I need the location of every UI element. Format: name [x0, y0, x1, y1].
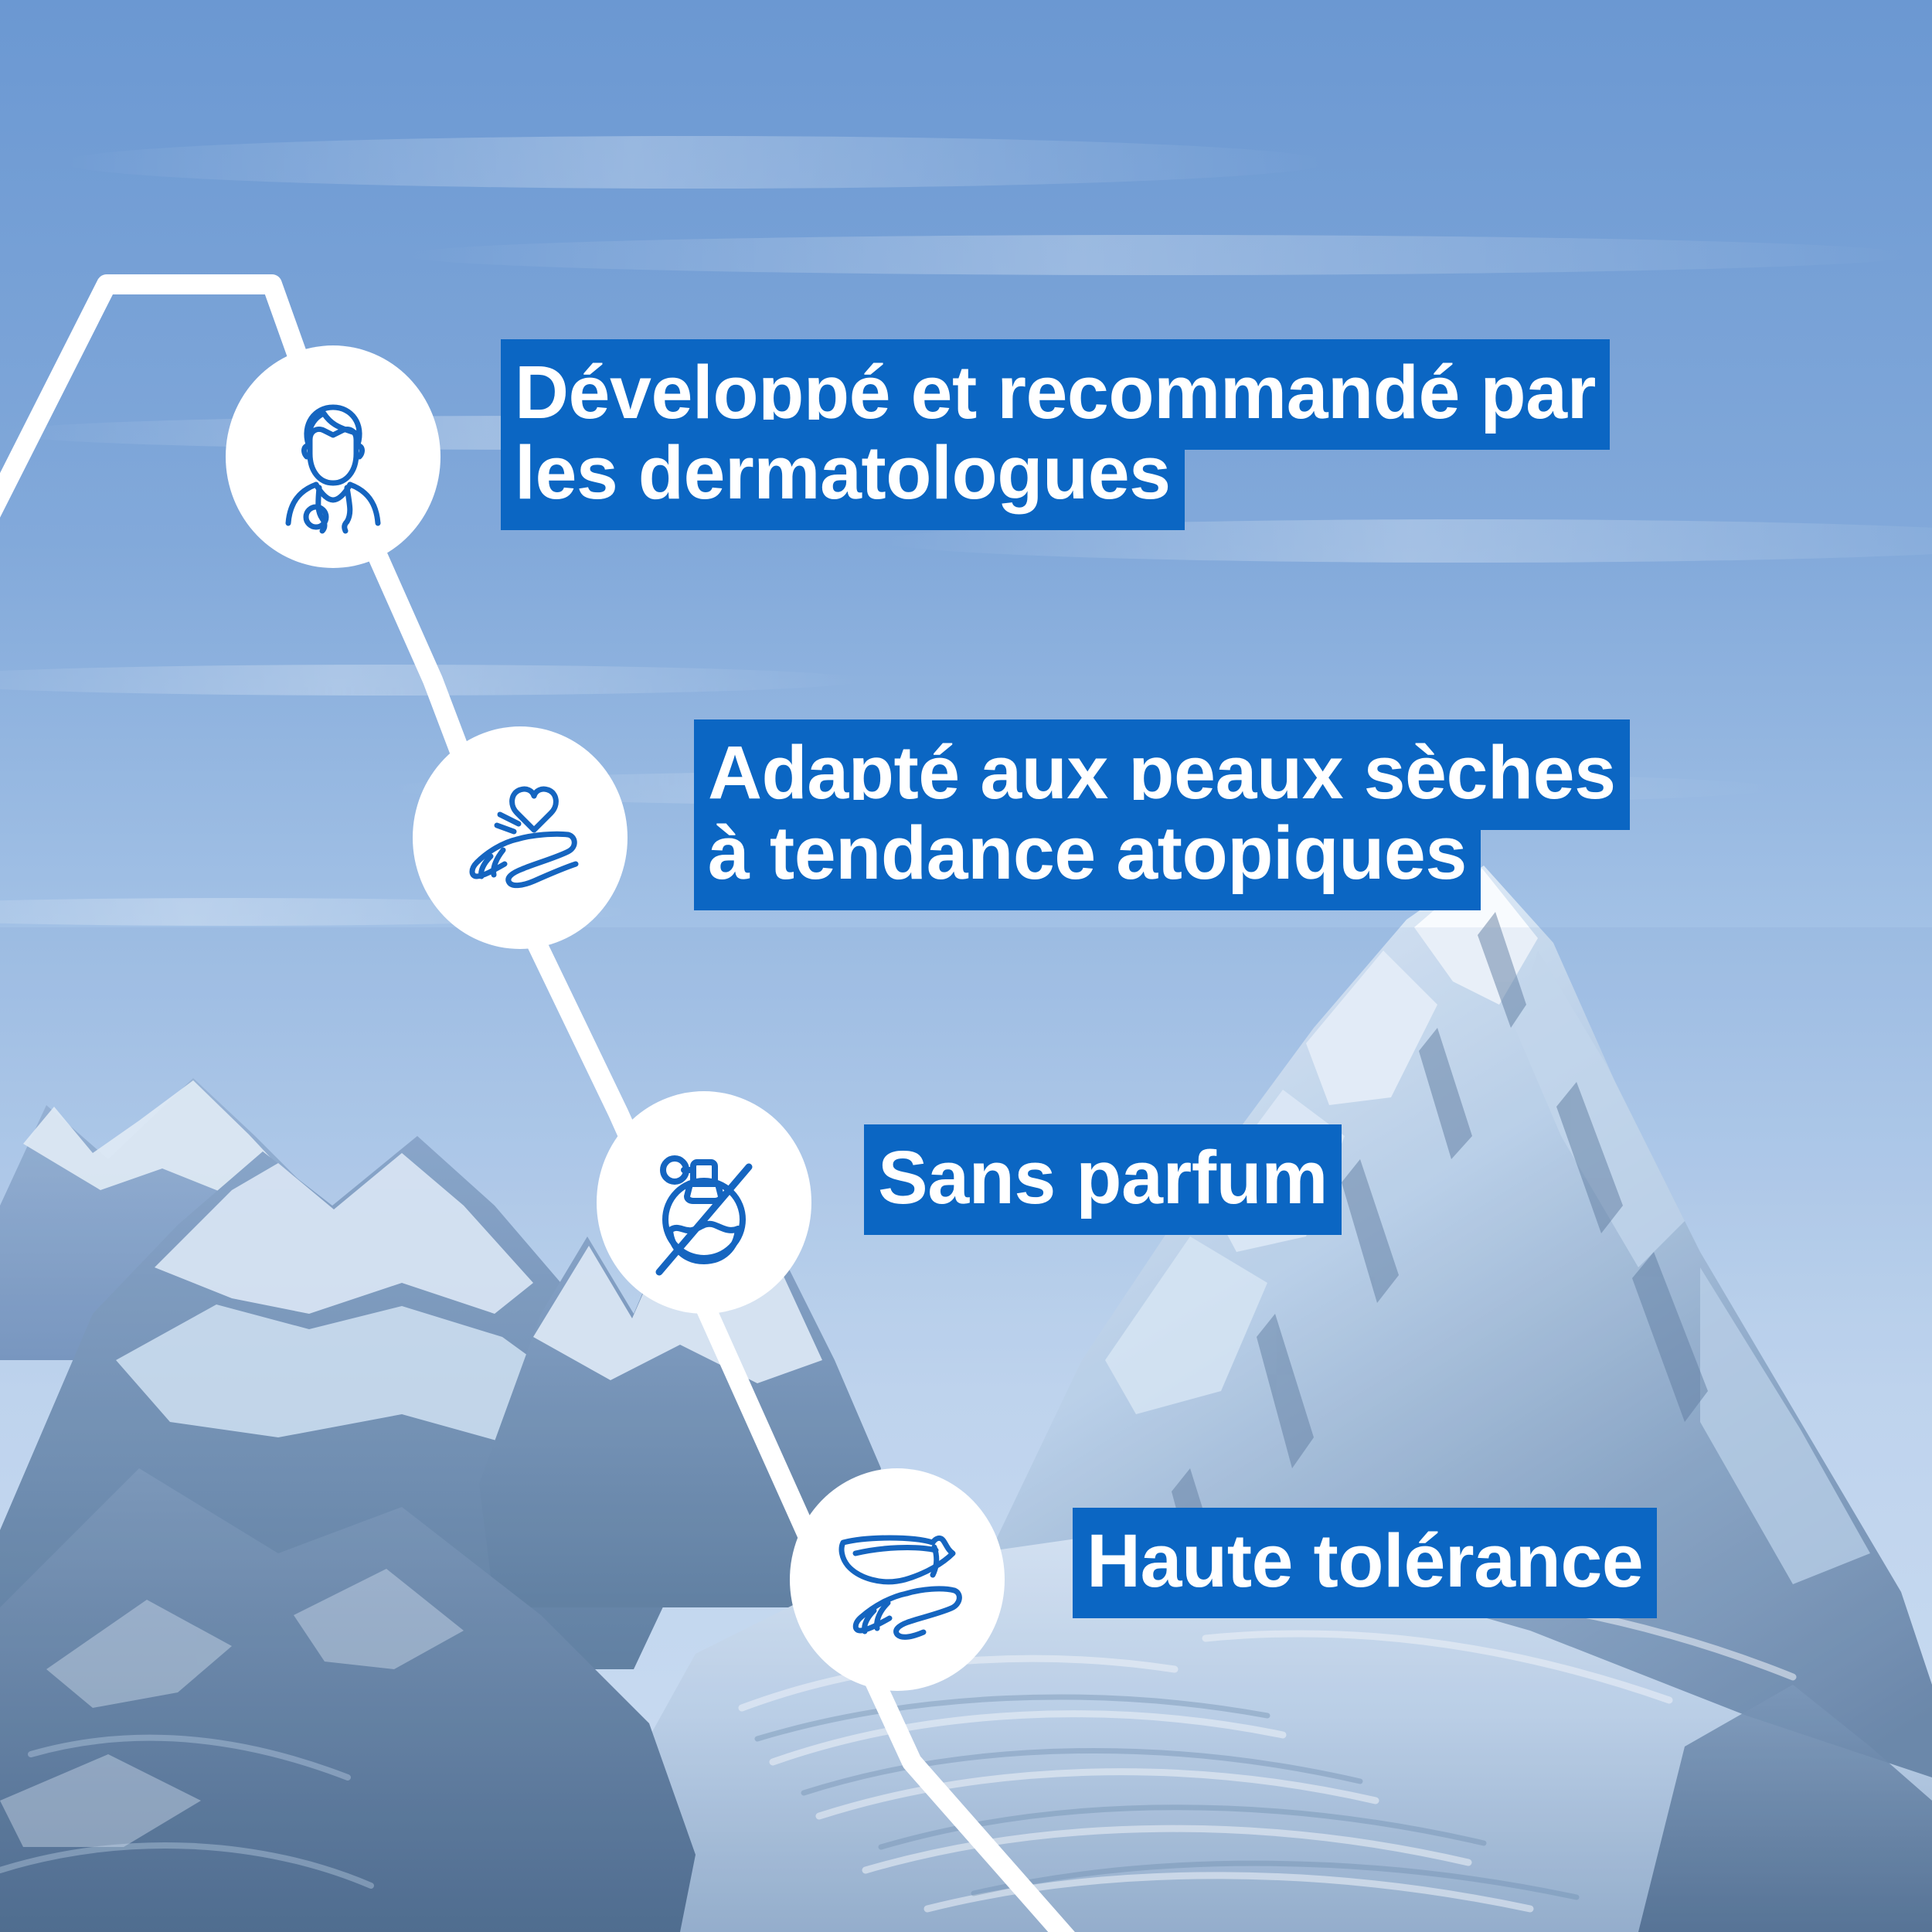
benefit-line-1: Haute tolérance — [1073, 1508, 1657, 1618]
benefit-icon-bubble-dry-atopic-skin — [413, 726, 628, 949]
promo-graphic: Développé et recommandé parles dermatolo… — [0, 0, 1932, 1932]
benefit-line-1: Sans parfum — [864, 1124, 1342, 1235]
benefit-line-2: les dermatologues — [501, 420, 1185, 530]
benefit-text-high-tolerance: Haute tolérance — [1073, 1521, 1768, 1601]
hand-heart-icon — [443, 760, 597, 915]
benefit-icon-bubble-high-tolerance — [790, 1468, 1005, 1691]
benefit-text-dermatologist: Développé et recommandé parles dermatolo… — [501, 352, 1768, 513]
benefit-icon-bubble-dermatologist — [226, 345, 440, 568]
benefit-text-dry-atopic-skin: Adapté aux peaux sèchesà tendance atopiq… — [694, 733, 1760, 893]
benefit-line-2: à tendance atopiques — [694, 800, 1481, 910]
benefit-text-fragrance-free: Sans parfum — [864, 1138, 1451, 1218]
no-perfume-icon — [627, 1125, 781, 1280]
feather-hand-icon — [820, 1502, 975, 1657]
doctor-stethoscope-icon — [256, 379, 410, 534]
benefit-icon-bubble-fragrance-free — [597, 1091, 811, 1314]
